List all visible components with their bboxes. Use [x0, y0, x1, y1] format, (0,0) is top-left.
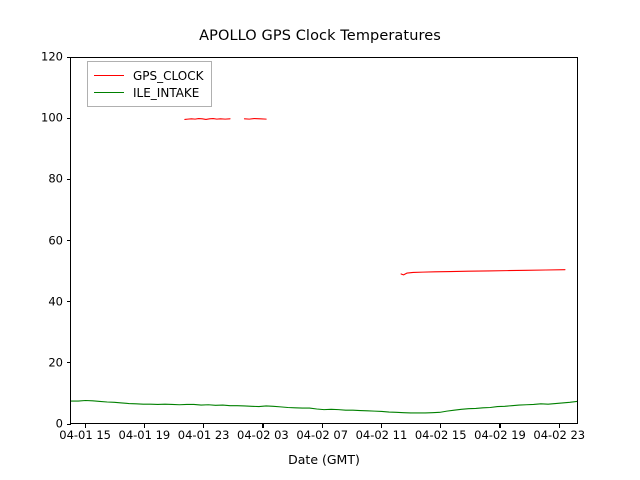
legend-item: ILE_INTAKE: [94, 84, 203, 101]
x-tick-mark: [499, 424, 500, 428]
plot-axes: [70, 57, 578, 424]
x-tick-mark: [440, 424, 441, 428]
series-line-gps_clock: [401, 270, 565, 275]
x-tick-label: 04-01 19: [119, 430, 171, 442]
legend-item: GPS_CLOCK: [94, 67, 203, 84]
plot-area: [71, 58, 577, 423]
x-tick-mark: [85, 424, 86, 428]
x-tick-label: 04-02 03: [237, 430, 289, 442]
x-tick-label: 04-01 23: [178, 430, 230, 442]
matplotlib-figure: APOLLO GPS Clock Temperatures 0204060801…: [0, 0, 640, 480]
x-tick-label: 04-02 19: [474, 430, 526, 442]
x-tick-mark: [322, 424, 323, 428]
series-line-ile_intake: [71, 400, 577, 412]
x-axis-label: Date (GMT): [70, 452, 578, 467]
x-tick-mark: [203, 424, 204, 428]
series-line-gps_clock: [244, 119, 266, 120]
y-tick-label: 0: [0, 418, 63, 430]
legend-color-swatch: [94, 75, 124, 76]
y-axis-label-container: Temperature (C): [16, 90, 36, 390]
x-tick-label: 04-02 15: [415, 430, 467, 442]
x-tick-mark: [559, 424, 560, 428]
x-tick-mark: [144, 424, 145, 428]
series-line-gps_clock: [185, 119, 230, 120]
x-tick-label: 04-02 07: [296, 430, 348, 442]
legend-label: GPS_CLOCK: [133, 69, 203, 83]
chart-title: APOLLO GPS Clock Temperatures: [0, 28, 640, 44]
y-tick-label: 120: [0, 51, 63, 63]
data-series-svg: [71, 58, 577, 423]
x-tick-mark: [381, 424, 382, 428]
legend-color-swatch: [94, 92, 124, 93]
x-tick-label: 04-01 15: [59, 430, 111, 442]
legend: GPS_CLOCKILE_INTAKE: [87, 61, 212, 107]
x-tick-label: 04-02 23: [533, 430, 585, 442]
x-tick-mark: [262, 424, 263, 428]
x-tick-label: 04-02 11: [356, 430, 408, 442]
legend-label: ILE_INTAKE: [133, 86, 199, 100]
